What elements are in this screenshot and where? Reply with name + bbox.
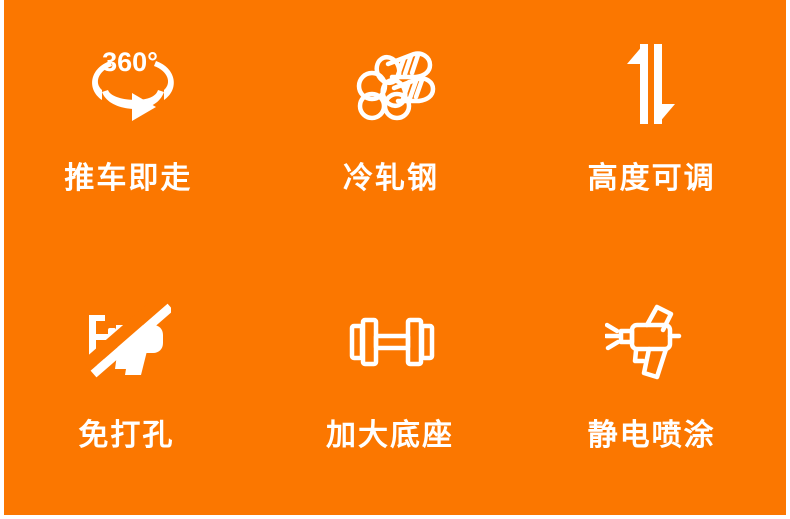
feature-label: 冷轧钢	[343, 162, 439, 195]
feature-label: 推车即走	[64, 162, 192, 195]
no-drill-icon	[85, 287, 171, 397]
product-feature-banner: 360° 推车即走	[4, 0, 786, 515]
feature-item-cold-rolled-steel: 冷轧钢	[265, 30, 526, 275]
dumbbell-icon	[349, 287, 435, 397]
feature-item-height-adjustable: 高度可调	[525, 30, 786, 275]
rotate-360-icon-text: 360°	[102, 47, 158, 77]
steel-rolls-icon	[352, 30, 436, 140]
feature-item-enlarged-base: 加大底座	[265, 275, 526, 490]
feature-item-electrostatic-coating: 静电喷涂	[525, 275, 786, 490]
feature-label: 静电喷涂	[588, 419, 716, 452]
rotate-360-icon: 360°	[76, 30, 184, 140]
feature-label: 加大底座	[326, 419, 454, 452]
feature-item-push-and-go: 360° 推车即走	[4, 30, 265, 275]
feature-item-no-drilling: 免打孔	[4, 275, 265, 490]
feature-label: 高度可调	[588, 162, 716, 195]
spray-gun-icon	[605, 287, 695, 397]
feature-label: 免打孔	[78, 419, 174, 452]
feature-grid: 360° 推车即走	[4, 0, 786, 515]
up-down-arrows-icon	[623, 30, 681, 140]
